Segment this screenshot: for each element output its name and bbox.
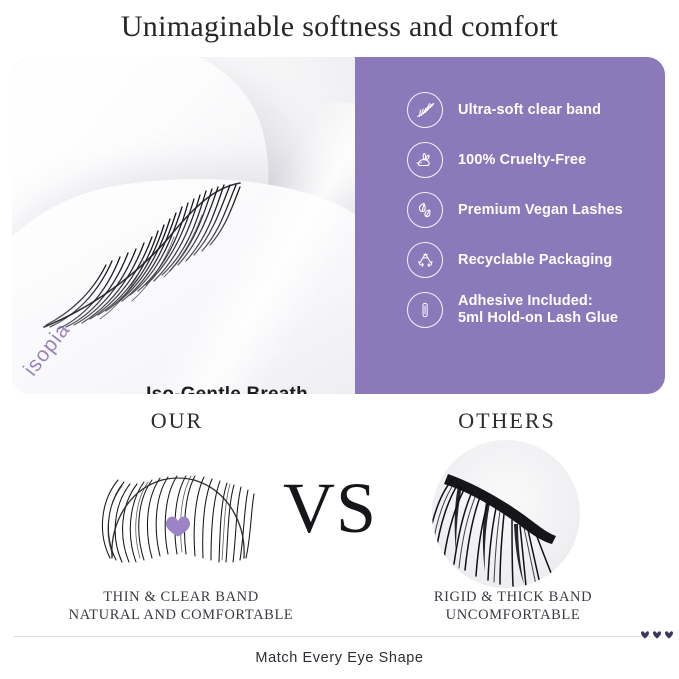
- recycle-icon: [407, 242, 443, 278]
- feature-item: 100% Cruelty-Free: [407, 139, 665, 181]
- rabbit-icon: [407, 142, 443, 178]
- our-caption: THIN & CLEAR BAND NATURAL AND COMFORTABL…: [40, 588, 322, 624]
- our-lash-illustration: [88, 438, 268, 568]
- features-panel: Ultra-soft clear band 100% Cruelty-Free: [355, 57, 665, 394]
- others-caption: RIGID & THICK BAND UNCOMFORTABLE: [372, 588, 654, 624]
- product-infographic: Unimaginable softness and comfort: [0, 0, 679, 679]
- page-title: Unimaginable softness and comfort: [0, 8, 679, 46]
- footer-divider: [14, 636, 651, 637]
- feature-item: Premium Vegan Lashes: [407, 189, 665, 231]
- lash-product-image: [40, 143, 270, 333]
- feature-label: Adhesive Included: 5ml Hold-on Lash Glue: [458, 293, 618, 327]
- others-lash-illustration: [432, 440, 580, 588]
- glue-tube-icon: [407, 292, 443, 328]
- leaf-icon: [407, 192, 443, 228]
- feature-item: Adhesive Included: 5ml Hold-on Lash Glue: [407, 289, 665, 331]
- product-name: Iso-Gentle Breath: [102, 384, 352, 394]
- feature-label: Ultra-soft clear band: [458, 102, 601, 119]
- vs-label: VS: [270, 468, 390, 548]
- hero-card: isopia Iso-Gentle Breath (Cat Eye Shape): [12, 57, 665, 394]
- lash-icon: [407, 92, 443, 128]
- comparison-others-title: OTHERS: [412, 408, 602, 434]
- feature-label: Recyclable Packaging: [458, 252, 612, 269]
- feature-item: Recyclable Packaging: [407, 239, 665, 281]
- features-list: Ultra-soft clear band 100% Cruelty-Free: [407, 89, 665, 339]
- feature-label: Premium Vegan Lashes: [458, 202, 623, 219]
- feature-item: Ultra-soft clear band: [407, 89, 665, 131]
- heart-dots-decoration: [640, 630, 676, 642]
- footer-tagline: Match Every Eye Shape: [0, 650, 679, 666]
- heart-icon: [166, 517, 190, 537]
- product-photo-area: isopia Iso-Gentle Breath (Cat Eye Shape): [12, 57, 355, 394]
- feature-label: 100% Cruelty-Free: [458, 152, 586, 169]
- comparison-our-title: OUR: [92, 408, 262, 434]
